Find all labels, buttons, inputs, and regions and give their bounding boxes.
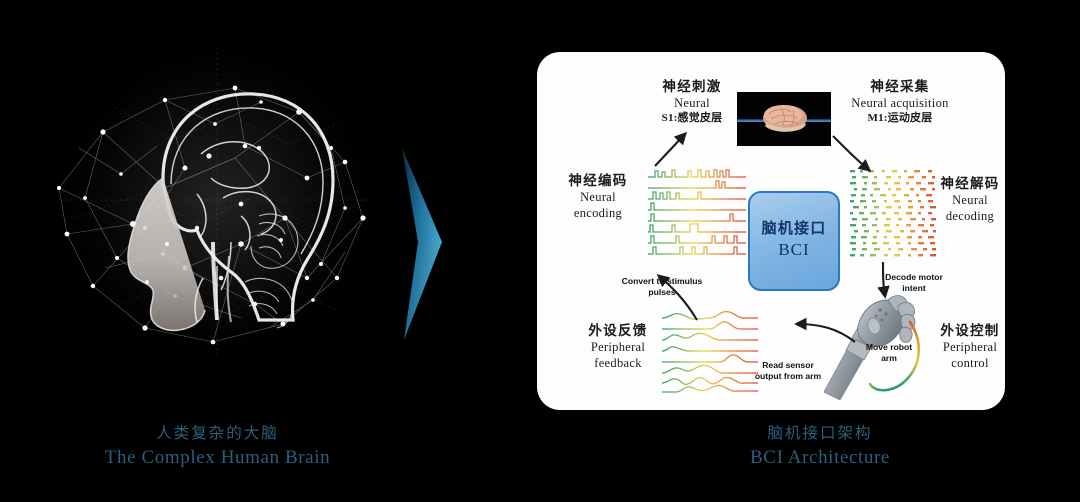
left-caption-en: The Complex Human Brain (45, 445, 390, 471)
left-panel-caption: 人类复杂的大脑 The Complex Human Brain (45, 424, 390, 471)
feedback-cn: 外设反馈 (568, 322, 668, 339)
label-neural-decoding: 神经解码 Neural decoding (930, 175, 1010, 224)
stim-cn: 神经刺激 (632, 78, 752, 95)
acq-cn: 神经采集 (830, 78, 970, 95)
brain-network-graphic (45, 28, 390, 373)
control-cn: 外设控制 (928, 322, 1012, 339)
stim-en: Neural (632, 95, 752, 111)
note-read-sensor-output: Read sensor output from arm (750, 360, 826, 382)
acq-en: Neural acquisition (830, 95, 970, 111)
enc-en2: encoding (552, 205, 644, 221)
acq-sub: M1:运动皮层 (830, 111, 970, 125)
dec-cn: 神经解码 (930, 175, 1010, 192)
control-en: Peripheral (928, 339, 1012, 355)
bci-center-box[interactable]: 脑机接口 BCI (748, 191, 840, 291)
slide-canvas: 人类复杂的大脑 The Complex Human Brain (0, 0, 1080, 502)
bci-box-en: BCI (778, 239, 809, 262)
feedback-en2: feedback (568, 355, 668, 371)
right-panel-caption: 脑机接口架构 BCI Architecture (640, 424, 1000, 471)
analog-waveform-traces (660, 310, 760, 394)
neural-decoding-matrix (848, 168, 940, 260)
left-panel: 人类复杂的大脑 The Complex Human Brain (0, 0, 430, 420)
label-neural-encoding: 神经编码 Neural encoding (552, 172, 644, 221)
dec-en2: decoding (930, 208, 1010, 224)
stim-sub: S1:感觉皮层 (632, 111, 752, 125)
right-caption-cn: 脑机接口架构 (640, 424, 1000, 445)
label-neural-stimulation: 神经刺激 Neural S1:感觉皮层 (632, 78, 752, 125)
label-neural-acquisition: 神经采集 Neural acquisition M1:运动皮层 (830, 78, 970, 125)
label-peripheral-feedback: 外设反馈 Peripheral feedback (568, 322, 668, 371)
label-peripheral-control: 外设控制 Peripheral control (928, 322, 1012, 371)
control-en2: control (928, 355, 1012, 371)
right-caption-en: BCI Architecture (640, 445, 1000, 471)
spike-train-raster (646, 168, 748, 260)
enc-en: Neural (552, 189, 644, 205)
dec-en: Neural (930, 192, 1010, 208)
enc-cn: 神经编码 (552, 172, 644, 189)
note-decode-motor-intent: Decode motor intent (884, 272, 944, 294)
feedback-en: Peripheral (568, 339, 668, 355)
note-move-robot-arm: Move robot arm (862, 342, 916, 364)
left-caption-cn: 人类复杂的大脑 (45, 424, 390, 445)
brain-network-image (45, 28, 390, 373)
note-convert-to-stimulus-pulses: Convert to stimulus pulses (620, 276, 704, 298)
bci-box-cn: 脑机接口 (762, 220, 827, 240)
transition-arrow (398, 140, 468, 350)
